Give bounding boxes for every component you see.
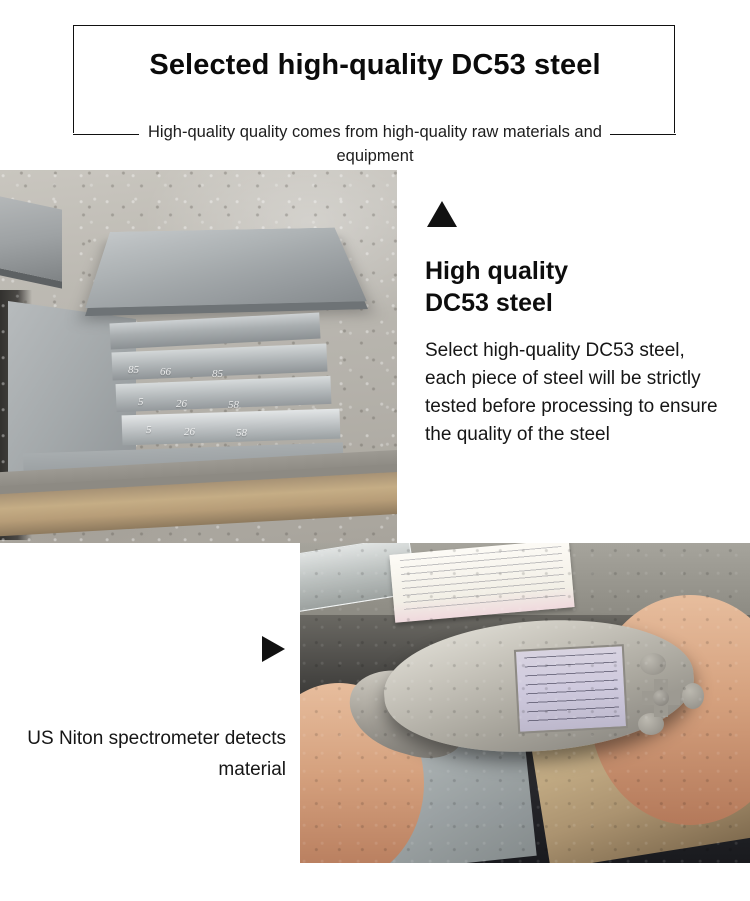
chalk-mark: 26 [184, 426, 195, 438]
spectrometer-dpad [642, 679, 680, 717]
steel-plate-top [85, 228, 367, 308]
chalk-mark: 85 [128, 364, 139, 376]
steel-plates-photo: 85 66 85 5 26 58 5 26 58 [0, 170, 397, 543]
triangle-up-icon [427, 201, 457, 227]
ruled-lines [400, 546, 566, 610]
caption-text: US Niton spectrometer detects material [10, 724, 286, 786]
caption-panel: US Niton spectrometer detects material [10, 636, 286, 786]
triangle-right-icon [262, 636, 285, 662]
chalk-mark: 5 [138, 396, 144, 408]
chalk-mark: 85 [212, 368, 223, 380]
spectrometer-photo [300, 543, 750, 863]
feature-heading: High quality DC53 steel [425, 255, 730, 319]
chalk-mark: 26 [176, 398, 187, 410]
spectrometer-display [514, 644, 628, 734]
promo-page: Selected high-quality DC53 steel High-qu… [0, 0, 750, 901]
spectrometer-button-top [640, 653, 666, 675]
feature-body-text: Select high-quality DC53 steel, each pie… [425, 337, 730, 449]
chalk-mark: 66 [160, 366, 171, 378]
chalk-mark: 58 [236, 427, 247, 439]
spectrometer-button-side [682, 683, 704, 709]
feature-panel: High quality DC53 steel Select high-qual… [425, 197, 730, 449]
chalk-mark: 5 [146, 424, 152, 436]
display-readout-rows [524, 653, 619, 726]
page-subtitle: High-quality quality comes from high-qua… [140, 120, 610, 169]
page-title: Selected high-quality DC53 steel [0, 50, 750, 82]
chalk-mark: 58 [228, 399, 239, 411]
